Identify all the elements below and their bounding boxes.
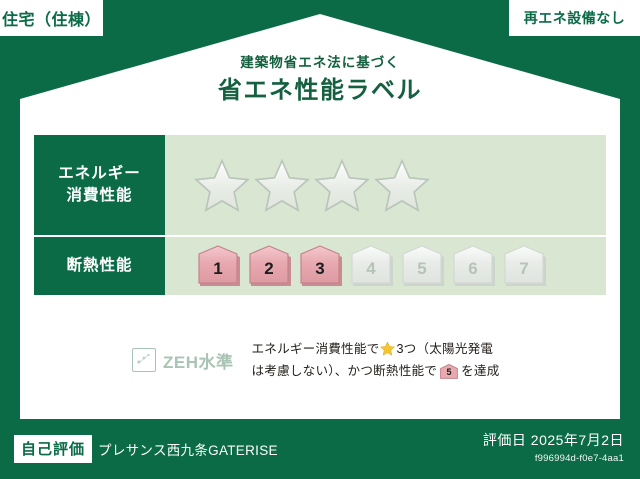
star-empty-icon <box>253 157 311 213</box>
energy-performance-label-line2: 消費性能 <box>66 185 132 207</box>
insulation-level-value: 5 <box>417 260 426 288</box>
insulation-level-value: 3 <box>315 260 324 288</box>
insulation-level-strip: 1234567 <box>193 244 549 288</box>
title-subtitle: 建築物省エネ法に基づく <box>0 56 640 71</box>
achievement-note-text: エネルギー消費性能で 3つ（太陽光発電 は考慮しない）、かつ断熱性能で 5 を達… <box>252 338 500 382</box>
energy-performance-row: エネルギー 消費性能 <box>34 135 606 237</box>
insulation-level-value: 6 <box>468 260 477 288</box>
insulation-level-value: 1 <box>213 260 222 288</box>
evaluation-date: 評価日 2025年7月2日 <box>483 430 624 450</box>
footer-right-group: 評価日 2025年7月2日 f996994d-f0e7-4aa1 <box>483 430 624 464</box>
achievement-note-line-2: は考慮しない）、かつ断熱性能で 5 を達成 <box>252 360 500 382</box>
label-footer: 自己評価 プレサンス西九条GATERISE 評価日 2025年7月2日 f996… <box>0 419 640 479</box>
performance-rows: エネルギー 消費性能 断熱性能 1234567 <box>34 135 606 295</box>
gold-star-icon <box>380 341 395 356</box>
insulation-level-5: 5 <box>397 244 447 288</box>
achievement-note-line2-part2: を達成 <box>461 360 499 382</box>
achievement-note-line1-part2: 3つ（太陽光発電 <box>396 338 493 360</box>
zeh-sparkle-icon <box>132 348 156 372</box>
page-title: 省エネ性能ラベル <box>0 78 640 104</box>
energy-performance-label: 住宅（住棟） 再エネ設備なし 建築物省エネ法に基づく 省エネ性能ラベル エネルギ… <box>0 0 640 479</box>
insulation-level-value: 7 <box>519 260 528 288</box>
insulation-level-1: 1 <box>193 244 243 288</box>
insulation-level-inline-badge: 5 <box>440 364 458 379</box>
insulation-performance-row-body: 1234567 <box>165 237 606 295</box>
insulation-level-7: 7 <box>499 244 549 288</box>
insulation-level-2: 2 <box>244 244 294 288</box>
insulation-performance-row-header: 断熱性能 <box>34 237 165 295</box>
building-name: プレサンス西九条GATERISE <box>98 439 278 459</box>
title-block: 建築物省エネ法に基づく 省エネ性能ラベル <box>0 56 640 104</box>
star-empty-icon <box>193 157 251 213</box>
energy-performance-label-line1: エネルギー <box>58 163 141 185</box>
insulation-level-inline-value: 5 <box>447 368 452 379</box>
insulation-level-4: 4 <box>346 244 396 288</box>
insulation-performance-label: 断熱性能 <box>66 255 132 277</box>
insulation-performance-row: 断熱性能 1234567 <box>34 237 606 295</box>
achievement-note-line1-part1: エネルギー消費性能で <box>252 338 380 360</box>
star-empty-icon <box>313 157 371 213</box>
insulation-level-value: 4 <box>366 260 375 288</box>
achievement-note-block: ZEH水準 エネルギー消費性能で 3つ（太陽光発電 は考慮しない）、かつ断熱性能… <box>34 326 606 394</box>
building-type-tag: 住宅（住棟） <box>0 0 103 36</box>
renewable-equipment-tag: 再エネ設備なし <box>509 0 640 36</box>
zeh-standard-label: ZEH水準 <box>163 348 234 373</box>
energy-performance-row-body <box>165 135 606 235</box>
footer-left-group: 自己評価 プレサンス西九条GATERISE <box>14 435 278 463</box>
evaluation-id: f996994d-f0e7-4aa1 <box>483 453 624 464</box>
achievement-note-line-1: エネルギー消費性能で 3つ（太陽光発電 <box>252 338 500 360</box>
self-evaluation-badge: 自己評価 <box>14 435 92 463</box>
insulation-level-6: 6 <box>448 244 498 288</box>
zeh-standard-badge: ZEH水準 <box>132 348 234 373</box>
star-rating-strip <box>193 157 431 213</box>
insulation-level-3: 3 <box>295 244 345 288</box>
achievement-note-line2-part1: は考慮しない）、かつ断熱性能で <box>252 360 438 382</box>
star-empty-icon <box>373 157 431 213</box>
energy-performance-row-header: エネルギー 消費性能 <box>34 135 165 235</box>
insulation-level-value: 2 <box>264 260 273 288</box>
